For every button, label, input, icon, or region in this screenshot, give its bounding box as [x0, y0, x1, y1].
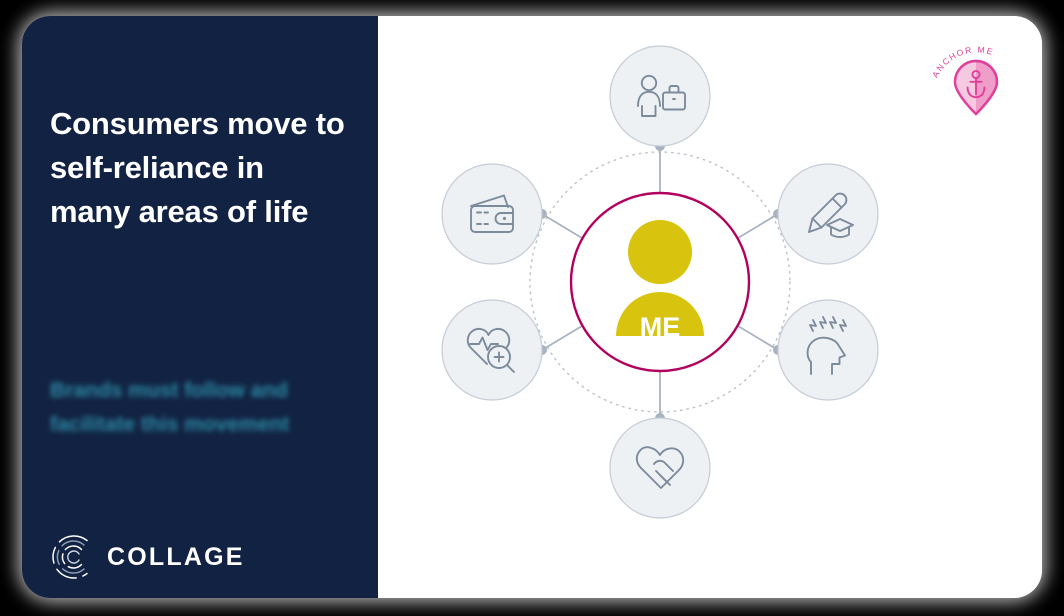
spoke-health — [542, 326, 582, 350]
slide-canvas: Consumers move to self-reliance in many … — [0, 0, 1064, 615]
collage-logo: COLLAGE — [48, 532, 245, 582]
center-me-node: ME — [571, 193, 749, 371]
diagram-node-mental-health — [778, 300, 878, 400]
diagram-node-work — [610, 46, 710, 146]
spoke-mental-health — [738, 326, 778, 350]
center-label: ME — [640, 312, 681, 342]
right-diagram-panel: ANCHOR ME — [378, 16, 1042, 598]
diagram-node-education — [778, 164, 878, 264]
spoke-education — [738, 214, 778, 238]
collage-logo-text: COLLAGE — [107, 543, 245, 572]
page-title: Consumers move to self-reliance in many … — [50, 102, 350, 234]
diagram-node-finance — [442, 164, 542, 264]
left-text-panel: Consumers move to self-reliance in many … — [22, 16, 378, 598]
slide-card: Consumers move to self-reliance in many … — [22, 16, 1042, 598]
spoke-finance — [542, 214, 582, 238]
hub-and-spoke-diagram: ME — [378, 16, 1042, 598]
subtitle-text: Brands must follow and facilitate this m… — [50, 374, 322, 442]
diagram-node-relationships — [610, 418, 710, 518]
collage-spiral-icon — [48, 532, 98, 582]
diagram-node-health — [442, 300, 542, 400]
